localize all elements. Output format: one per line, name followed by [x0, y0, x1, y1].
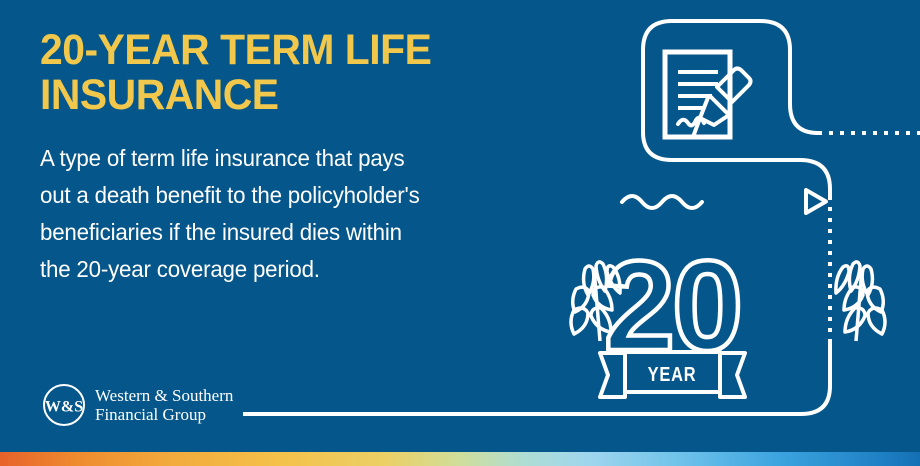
text-column: 20-YEAR TERM LIFE INSURANCE A type of te…: [40, 28, 560, 288]
description-text: A type of term life insurance that pays …: [40, 140, 544, 288]
bottom-gradient-bar: [0, 452, 920, 466]
page-title: 20-YEAR TERM LIFE INSURANCE: [40, 28, 534, 118]
brand-name: Western & Southern Financial Group: [95, 386, 233, 424]
ribbon-label: YEAR: [648, 362, 697, 385]
brand-logo: W&S Western & Southern Financial Group: [42, 383, 233, 427]
ws-monogram: W&S: [45, 399, 83, 416]
ws-circle-mark-icon: W&S: [42, 383, 86, 427]
